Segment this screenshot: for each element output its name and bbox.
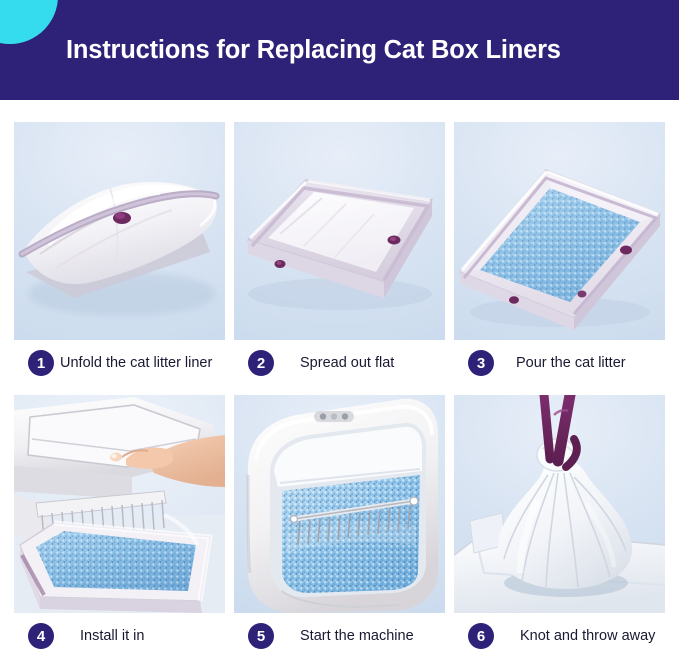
drawstring-knot-right (620, 246, 632, 255)
install-tray-illustration (14, 395, 225, 613)
photo-start-machine (234, 395, 445, 613)
drawstring-knot-left (578, 291, 587, 298)
cyan-corner-circle (0, 0, 58, 44)
drawstring-knot-bottom (509, 296, 519, 304)
step-caption-6: 6 Knot and throw away (454, 613, 665, 653)
step-label: Knot and throw away (520, 628, 655, 644)
step-number-badge: 5 (248, 623, 274, 649)
photo-pour-litter (454, 122, 665, 340)
photo-unfold-liner (14, 122, 225, 340)
step-card-2: 2 Spread out flat (234, 122, 445, 386)
indicator-lights (314, 411, 354, 422)
step-number-badge: 1 (28, 350, 54, 376)
step-number-badge: 3 (468, 350, 494, 376)
poster-header: Instructions for Replacing Cat Box Liner… (0, 0, 679, 100)
step-caption-5: 5 Start the machine (234, 613, 445, 653)
liner-bag-illustration (14, 122, 225, 340)
step-caption-4: 4 Install it in (14, 613, 225, 653)
flat-liner-tray-illustration (234, 122, 445, 340)
step-card-3: 3 Pour the cat litter (454, 122, 665, 386)
page-title: Instructions for Replacing Cat Box Liner… (66, 0, 561, 100)
step-caption-3: 3 Pour the cat litter (454, 340, 665, 386)
step-caption-2: 2 Spread out flat (234, 340, 445, 386)
step-number-badge: 4 (28, 623, 54, 649)
litter-filled-tray-illustration (454, 122, 665, 340)
drawstring-knot-left (275, 260, 286, 268)
step-number-badge: 6 (468, 623, 494, 649)
step-number-badge: 2 (248, 350, 274, 376)
step-label: Start the machine (300, 628, 414, 644)
step-label: Spread out flat (300, 355, 394, 371)
step-card-1: 1 Unfold the cat litter liner (14, 122, 225, 386)
step-caption-1: 1 Unfold the cat litter liner (14, 340, 225, 386)
step-label: Install it in (80, 628, 144, 644)
knotted-bag-illustration (454, 395, 665, 613)
step-label: Pour the cat litter (516, 355, 626, 371)
instruction-poster: Instructions for Replacing Cat Box Liner… (0, 0, 679, 653)
drawstring (544, 395, 577, 467)
drawstring-knot-right (388, 236, 401, 245)
step-card-5: 5 Start the machine (234, 395, 445, 653)
steps-grid: 1 Unfold the cat litter liner (14, 122, 665, 642)
photo-install-tray (14, 395, 225, 613)
running-machine-illustration (234, 395, 445, 613)
step-label: Unfold the cat litter liner (60, 355, 212, 371)
photo-knot-bag (454, 395, 665, 613)
step-card-4: 4 Install it in (14, 395, 225, 653)
photo-spread-flat (234, 122, 445, 340)
step-card-6: 6 Knot and throw away (454, 395, 665, 653)
drawstring-knot (113, 212, 131, 224)
